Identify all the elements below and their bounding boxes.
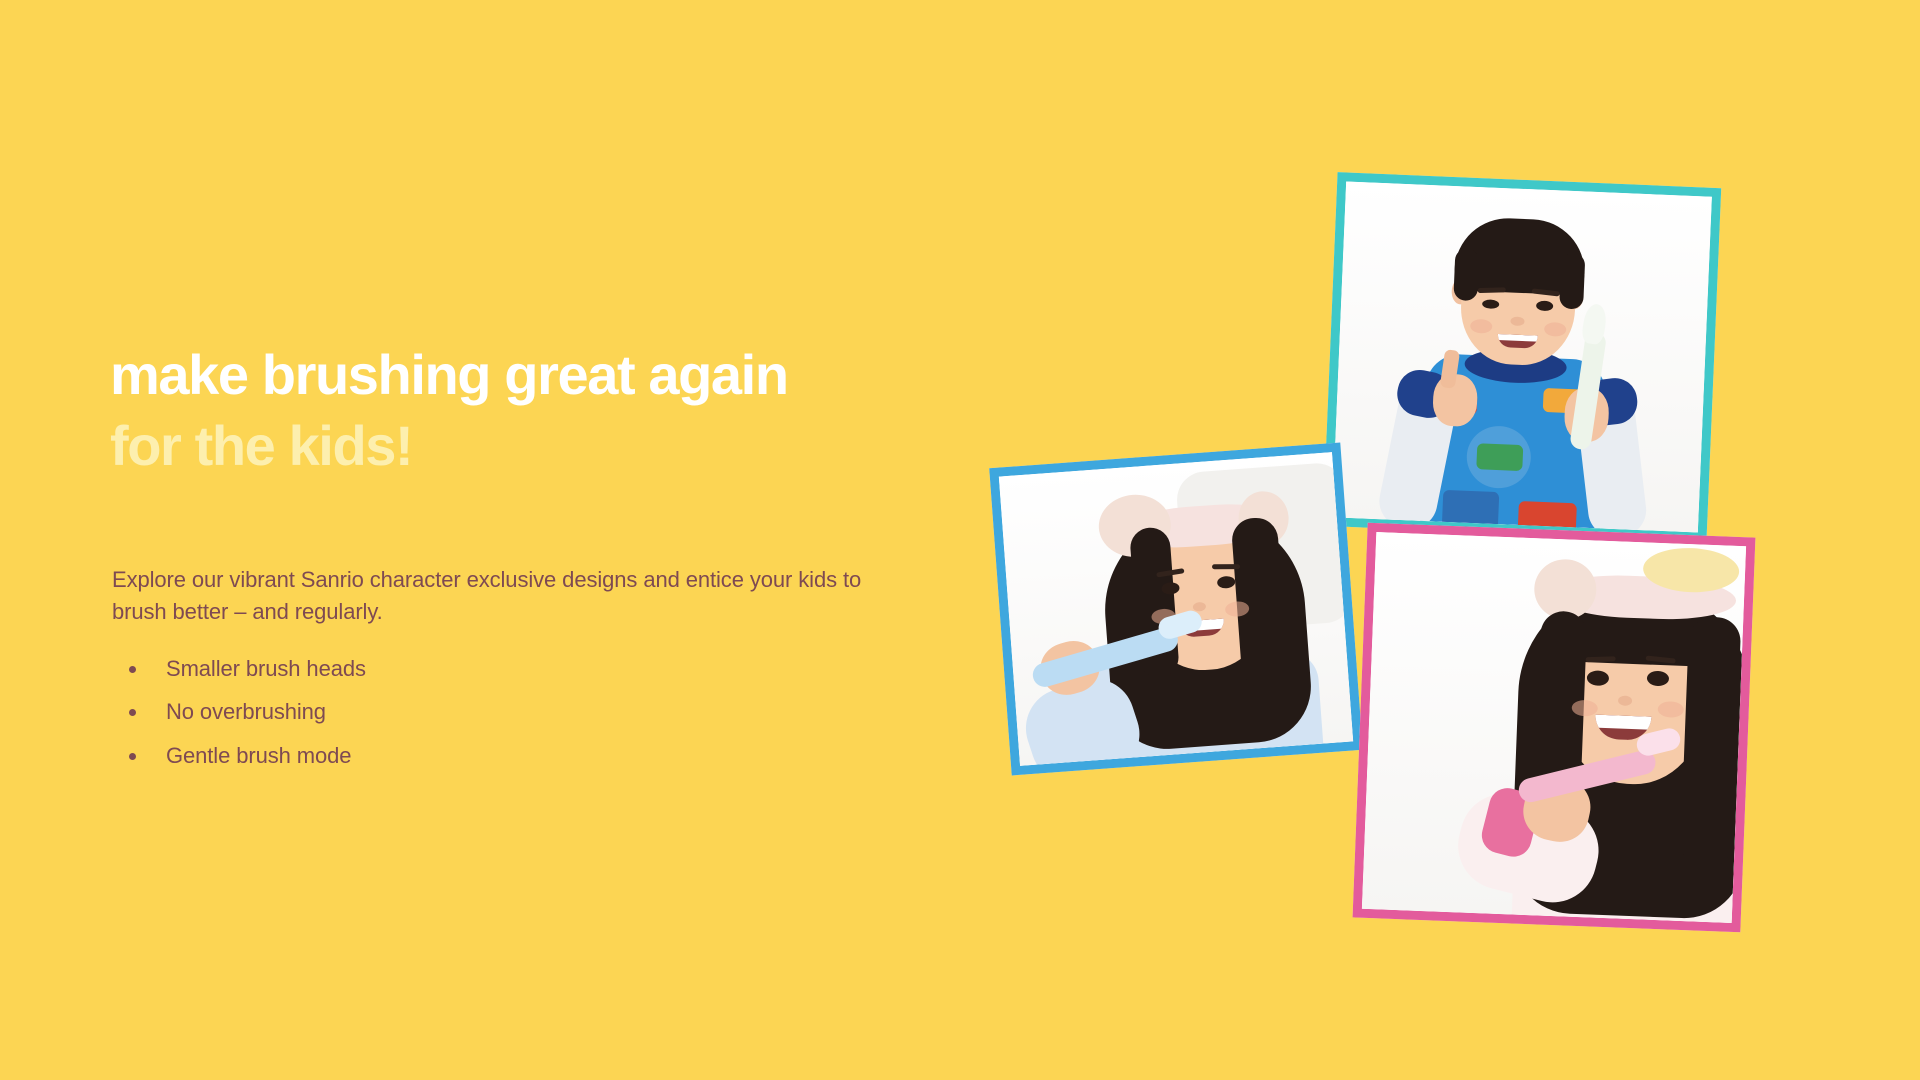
- photo-boy-thumbs-up: [1332, 181, 1712, 532]
- hero-copy-block: make brushing great again for the kids! …: [110, 340, 950, 481]
- feature-label: No overbrushing: [166, 699, 326, 724]
- list-item: Gentle brush mode: [112, 743, 366, 769]
- photo-card-girl-blue-pyjamas: [989, 443, 1363, 776]
- headline-line-1: make brushing great again: [110, 340, 950, 411]
- photo-card-boy-thumbs-up: [1323, 172, 1721, 542]
- photo-girl-blue-pyjamas: [999, 452, 1353, 766]
- list-item: Smaller brush heads: [112, 656, 366, 682]
- feature-label: Gentle brush mode: [166, 743, 351, 768]
- hero-description: Explore our vibrant Sanrio character exc…: [112, 564, 912, 628]
- feature-label: Smaller brush heads: [166, 656, 366, 681]
- bullet-icon: [129, 666, 136, 673]
- bullet-icon: [129, 753, 136, 760]
- photo-card-girl-pink-top: [1353, 523, 1756, 933]
- photo-collage: [1000, 150, 1820, 970]
- bullet-icon: [129, 709, 136, 716]
- page-title: make brushing great again for the kids!: [110, 340, 950, 481]
- feature-list: Smaller brush heads No overbrushing Gent…: [112, 656, 366, 769]
- list-item: No overbrushing: [112, 699, 366, 725]
- photo-girl-pink-top: [1362, 532, 1746, 923]
- hero-section: make brushing great again for the kids! …: [0, 0, 1920, 1080]
- headline-line-2: for the kids!: [110, 411, 950, 482]
